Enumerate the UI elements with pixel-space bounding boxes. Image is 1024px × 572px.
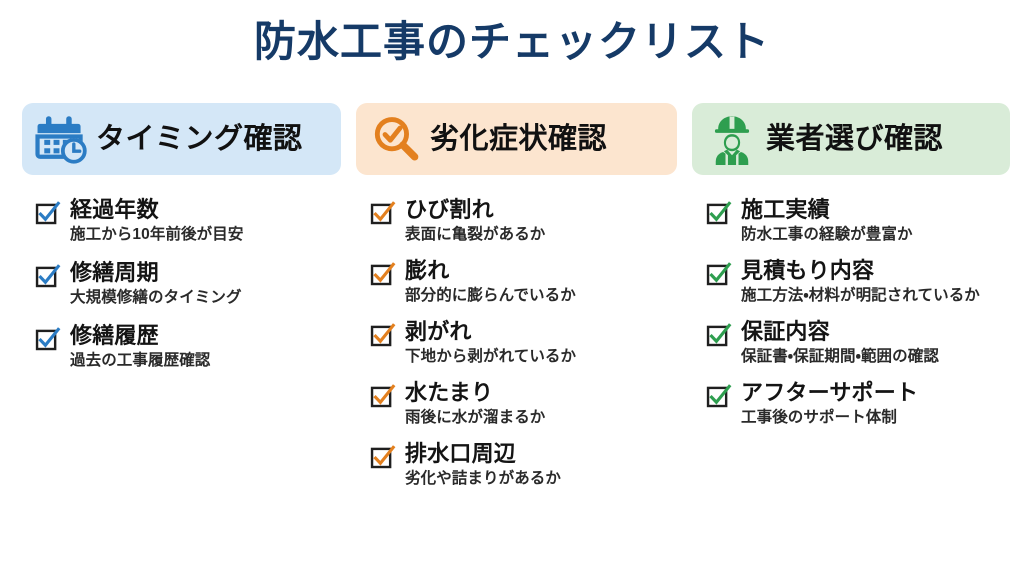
checkbox-checked-icon[interactable] — [35, 327, 61, 353]
checklist-columns: タイミング確認 経過年数 施工から10年前後が目安 — [0, 103, 1024, 572]
checkbox-checked-icon[interactable] — [706, 384, 732, 410]
list-item-title: 施工実績 — [741, 197, 1020, 223]
list-item[interactable]: 膨れ 部分的に膨らんでいるか — [370, 258, 676, 306]
magnifier-check-icon — [368, 111, 424, 167]
worker-helmet-icon — [704, 111, 760, 167]
list-item-title: 水たまり — [405, 380, 676, 406]
column-header-label: タイミング確認 — [96, 125, 303, 154]
checkbox-checked-icon[interactable] — [35, 264, 61, 290]
column-contractor: 業者選び確認 施工実績 防水工事の経験が豊富か — [678, 103, 1024, 572]
list-item[interactable]: アフターサポート 工事後のサポート体制 — [706, 380, 1020, 428]
list-item-body: 水たまり 雨後に水が溜まるか — [405, 380, 676, 428]
list-item[interactable]: 排水口周辺 劣化や詰まりがあるか — [370, 441, 676, 489]
checklist-infographic: 防水工事のチェックリスト — [0, 0, 1024, 572]
column-header-label: 劣化症状確認 — [430, 125, 607, 154]
list-item[interactable]: 施工実績 防水工事の経験が豊富か — [706, 197, 1020, 245]
page-title: 防水工事のチェックリスト — [0, 16, 1024, 69]
column-timing: タイミング確認 経過年数 施工から10年前後が目安 — [0, 103, 342, 572]
list-item[interactable]: 修繕周期 大規模修繕のタイミング — [35, 260, 340, 308]
list-item-desc: 過去の工事履歴確認 — [70, 351, 340, 371]
checklist-items-deterioration: ひび割れ 表面に亀裂があるか 膨れ 部分的に膨らんでいるか — [356, 197, 676, 489]
list-item-desc: 工事後のサポート体制 — [741, 408, 1020, 428]
list-item-desc: 大規模修繕のタイミング — [70, 288, 340, 308]
list-item-title: 保証内容 — [741, 319, 1020, 345]
list-item-desc: 施工方法・材料が明記されているか — [741, 286, 1020, 306]
checkbox-checked-icon[interactable] — [370, 262, 396, 288]
list-item-title: 修繕周期 — [70, 260, 340, 286]
list-item-title: 修繕履歴 — [70, 323, 340, 349]
list-item-body: 施工実績 防水工事の経験が豊富か — [741, 197, 1020, 245]
list-item-desc: 劣化や詰まりがあるか — [405, 469, 676, 489]
checkbox-checked-icon[interactable] — [706, 262, 732, 288]
list-item[interactable]: 修繕履歴 過去の工事履歴確認 — [35, 323, 340, 371]
list-item[interactable]: 見積もり内容 施工方法・材料が明記されているか — [706, 258, 1020, 306]
list-item-desc: 雨後に水が溜まるか — [405, 408, 676, 428]
column-header-contractor: 業者選び確認 — [692, 103, 1010, 175]
list-item-desc: 保証書・保証期間・範囲の確認 — [741, 347, 1020, 367]
list-item-desc: 部分的に膨らんでいるか — [405, 286, 676, 306]
list-item-body: アフターサポート 工事後のサポート体制 — [741, 380, 1020, 428]
list-item[interactable]: 経過年数 施工から10年前後が目安 — [35, 197, 340, 245]
calendar-clock-icon — [34, 111, 90, 167]
list-item-desc: 防水工事の経験が豊富か — [741, 225, 1020, 245]
checklist-items-timing: 経過年数 施工から10年前後が目安 修繕周期 大規模修繕のタイミング — [22, 197, 340, 371]
list-item-desc: 施工から10年前後が目安 — [70, 225, 340, 245]
checkbox-checked-icon[interactable] — [370, 384, 396, 410]
list-item[interactable]: ひび割れ 表面に亀裂があるか — [370, 197, 676, 245]
list-item-body: 修繕履歴 過去の工事履歴確認 — [70, 323, 340, 371]
column-deterioration: 劣化症状確認 ひび割れ 表面に亀裂があるか — [342, 103, 678, 572]
list-item-title: 膨れ — [405, 258, 676, 284]
list-item-body: 排水口周辺 劣化や詰まりがあるか — [405, 441, 676, 489]
list-item-title: 排水口周辺 — [405, 441, 676, 467]
column-header-timing: タイミング確認 — [22, 103, 341, 175]
column-header-deterioration: 劣化症状確認 — [356, 103, 677, 175]
list-item-title: アフターサポート — [741, 380, 1020, 406]
list-item-body: 保証内容 保証書・保証期間・範囲の確認 — [741, 319, 1020, 367]
checkbox-checked-icon[interactable] — [706, 323, 732, 349]
checklist-items-contractor: 施工実績 防水工事の経験が豊富か 見積もり内容 施工方法・材料が明記されているか — [692, 197, 1020, 428]
checkbox-checked-icon[interactable] — [370, 323, 396, 349]
checkbox-checked-icon[interactable] — [35, 201, 61, 227]
column-header-label: 業者選び確認 — [766, 125, 943, 154]
list-item-title: 剥がれ — [405, 319, 676, 345]
list-item-body: 剥がれ 下地から剥がれているか — [405, 319, 676, 367]
list-item[interactable]: 水たまり 雨後に水が溜まるか — [370, 380, 676, 428]
list-item-title: ひび割れ — [405, 197, 676, 223]
list-item-title: 見積もり内容 — [741, 258, 1020, 284]
list-item-desc: 表面に亀裂があるか — [405, 225, 676, 245]
list-item-body: 見積もり内容 施工方法・材料が明記されているか — [741, 258, 1020, 306]
checkbox-checked-icon[interactable] — [370, 201, 396, 227]
list-item-title: 経過年数 — [70, 197, 340, 223]
list-item-body: 修繕周期 大規模修繕のタイミング — [70, 260, 340, 308]
list-item-body: 経過年数 施工から10年前後が目安 — [70, 197, 340, 245]
list-item-desc: 下地から剥がれているか — [405, 347, 676, 367]
list-item-body: 膨れ 部分的に膨らんでいるか — [405, 258, 676, 306]
checkbox-checked-icon[interactable] — [370, 445, 396, 471]
list-item[interactable]: 剥がれ 下地から剥がれているか — [370, 319, 676, 367]
checkbox-checked-icon[interactable] — [706, 201, 732, 227]
list-item[interactable]: 保証内容 保証書・保証期間・範囲の確認 — [706, 319, 1020, 367]
list-item-body: ひび割れ 表面に亀裂があるか — [405, 197, 676, 245]
